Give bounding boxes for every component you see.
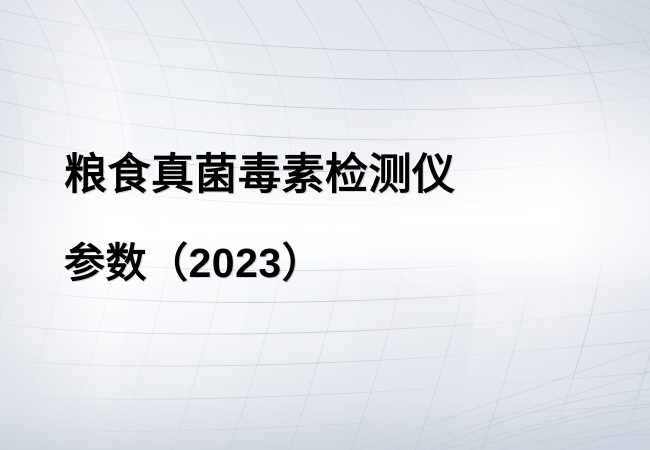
banner-title: 粮食真菌毒素检测仪 参数（2023）: [64, 131, 584, 307]
banner-image: 粮食真菌毒素检测仪 参数（2023）: [0, 0, 650, 450]
banner-title-line-2: 参数（2023）: [64, 219, 584, 307]
banner-title-line-1: 粮食真菌毒素检测仪: [64, 131, 584, 219]
